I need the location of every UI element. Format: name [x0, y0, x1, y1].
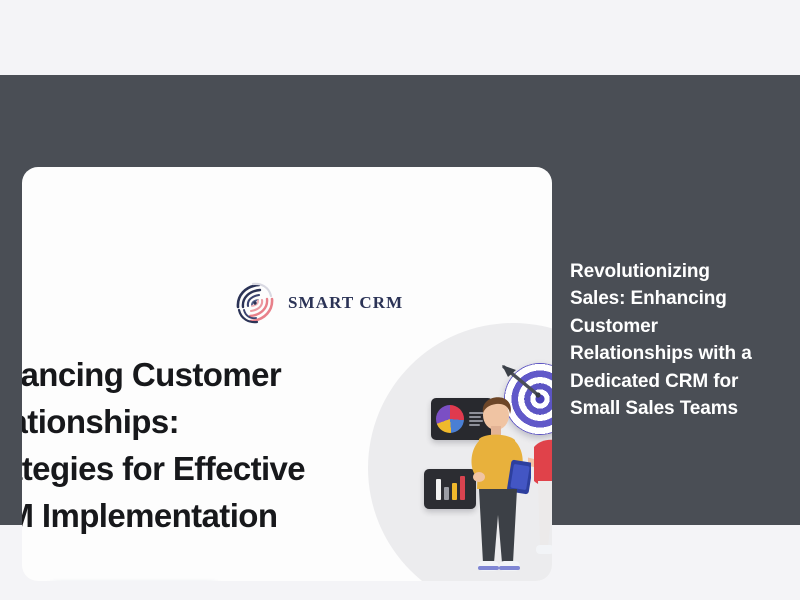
headline-line-3: Strategies for Effective: [22, 445, 552, 492]
hero-headline: Enhancing Customer Relationships: Strate…: [22, 351, 552, 539]
headline-line-2: Relationships:: [22, 398, 552, 445]
headline-line-1: Enhancing Customer: [22, 351, 552, 398]
brand-name: SMART CRM: [288, 293, 403, 313]
hero-media-card[interactable]: SMART CRM: [22, 167, 552, 581]
brand-lockup: SMART CRM: [229, 277, 403, 329]
article-title: Revolutionizing Sales: Enhancing Custome…: [570, 258, 770, 423]
hero-panel: SMART CRM: [0, 75, 800, 525]
page-root: SMART CRM: [0, 0, 800, 600]
headline-line-4: CRM Implementation: [22, 492, 552, 539]
swirl-spiral-logo-icon: [229, 277, 281, 329]
